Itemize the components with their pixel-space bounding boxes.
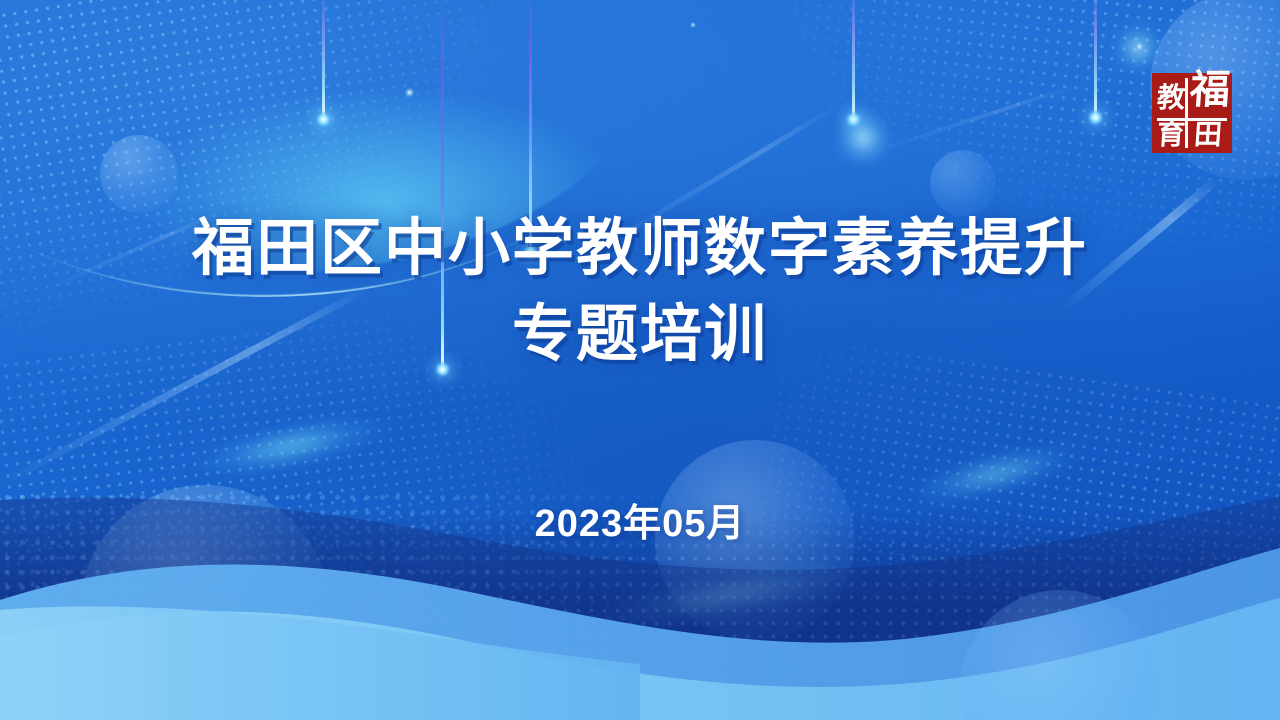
meteor-head	[1088, 110, 1103, 125]
slide-date: 2023年05月	[0, 492, 1280, 547]
seal-char-yu: 育	[1156, 121, 1186, 149]
spark-dot-1	[405, 88, 414, 97]
meteor-5	[1094, 0, 1097, 118]
meteor-head	[846, 112, 861, 127]
meteor-tail	[852, 0, 855, 120]
lens-flare-top-center	[835, 110, 891, 166]
title-line-1: 福田区中小学教师数字素养提升	[0, 206, 1280, 292]
meteor-4	[852, 0, 855, 120]
meteor-1	[322, 0, 325, 120]
decor-sphere-bottom-right	[960, 590, 1160, 720]
seal-cell-top-right: 福	[1188, 78, 1228, 118]
decor-sphere-small-top-left	[100, 135, 178, 213]
futian-education-logo[interactable]: 教 福 育 田	[1152, 73, 1232, 153]
meteor-halo	[304, 99, 344, 139]
light-streak-upper-right	[855, 85, 1075, 160]
lens-flare-top-right	[1115, 25, 1161, 71]
slide-title: 福田区中小学教师数字素养提升 专题培训	[0, 206, 1280, 378]
seal-char-jiao: 教	[1156, 84, 1186, 112]
presentation-title-slide: 教 福 育 田 福田区中小学教师数字素养提升 专题培训 2023年05月	[0, 0, 1280, 720]
meteor-tail	[1094, 0, 1097, 118]
lens-flare-bottom	[598, 555, 861, 635]
seal-char-fu: 福	[1189, 70, 1232, 110]
spark-dot-3	[690, 22, 696, 28]
seal-cell-top-left: 教	[1157, 78, 1185, 118]
seal-character-grid: 教 福 育 田	[1157, 78, 1227, 148]
spark-dot-2	[1136, 43, 1143, 50]
meteor-head	[316, 112, 331, 127]
meteor-tail	[322, 0, 325, 120]
title-line-2: 专题培训	[0, 292, 1280, 378]
meteor-halo	[1076, 97, 1116, 137]
meteor-halo	[834, 99, 874, 139]
seal-cell-bottom-right: 田	[1188, 121, 1228, 149]
seal-char-tian: 田	[1193, 121, 1223, 149]
lens-flare-left	[193, 406, 388, 487]
seal-cell-bottom-left: 育	[1157, 121, 1185, 149]
